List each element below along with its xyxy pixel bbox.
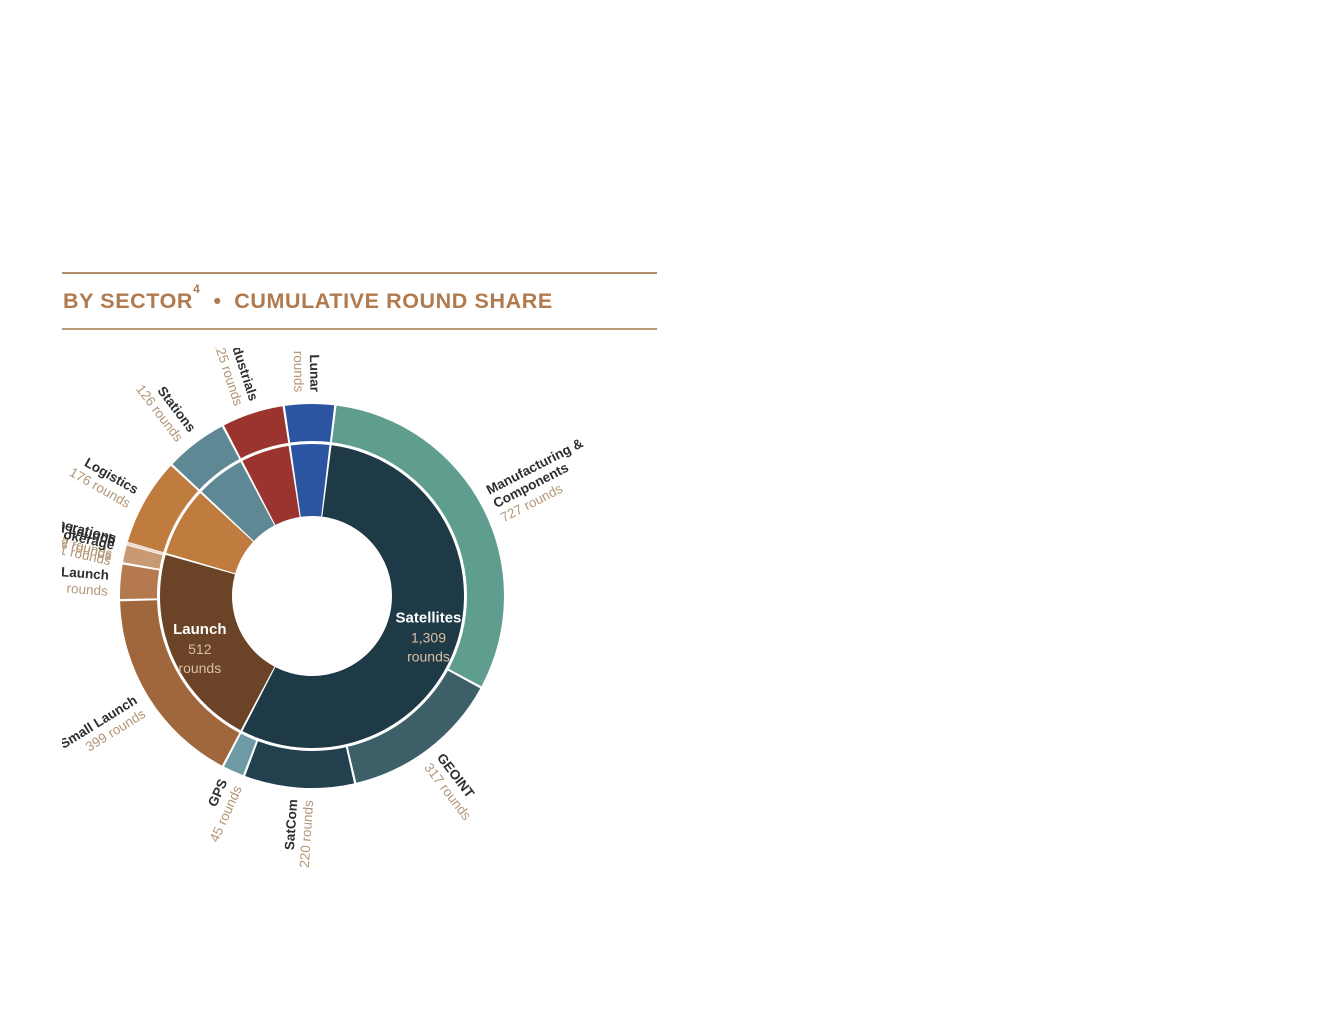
donut-center-label-name: Launch (173, 621, 226, 638)
left-title-rest: CUMULATIVE ROUND SHARE (234, 289, 553, 313)
donut-center-label-name: Satellites (396, 609, 462, 626)
donut-outer-label: Manufacturing &Components727 rounds (484, 435, 600, 525)
donut-center-label-value: 512 (188, 641, 212, 657)
donut-outer-label: GEOINT317 rounds (421, 750, 487, 823)
left-panel-title: BY SECTOR4 • CUMULATIVE ROUND SHARE (62, 274, 657, 328)
donut-center-label-unit: rounds (178, 660, 221, 676)
donut-outer-label: SatCom220 rounds (281, 798, 316, 868)
donut-chart-container: Satellites1,309roundsLaunch512roundsManu… (62, 348, 662, 868)
donut-chart: Satellites1,309roundsLaunch512roundsManu… (62, 348, 662, 868)
donut-center-label-value: 1,309 (411, 629, 446, 645)
left-panel-header: BY SECTOR4 • CUMULATIVE ROUND SHARE (62, 272, 657, 330)
donut-slices (120, 404, 504, 788)
donut-outer-label: Logistics176 rounds (67, 451, 141, 511)
donut-outer-label: GPS45 rounds (192, 777, 245, 845)
donut-outer-label: Industrials125 rounds (210, 348, 261, 408)
left-title-main: BY SECTOR (63, 289, 193, 313)
donut-label-value: 220 rounds (297, 799, 317, 868)
by-sector-round-share-panel: BY SECTOR4 • CUMULATIVE ROUND SHARE Sate… (0, 0, 672, 1024)
by-sector-investment-panel: BY SECTOR • CUMULATIVE INVESTMENT AMOUNT… (672, 0, 1343, 1024)
donut-outer-label: Stations126 rounds (133, 372, 199, 445)
donut-outer-label: Small Launch399 rounds (62, 692, 148, 765)
header-rule-bottom (62, 328, 657, 330)
donut-label-name: Lunar (307, 354, 322, 392)
left-title-footnote: 4 (193, 282, 200, 296)
donut-center-label-unit: rounds (407, 648, 450, 664)
left-title-separator: • (214, 289, 222, 313)
donut-outer-label: Lunar101 rounds (290, 348, 322, 393)
donut-label-value: 101 rounds (290, 348, 306, 392)
